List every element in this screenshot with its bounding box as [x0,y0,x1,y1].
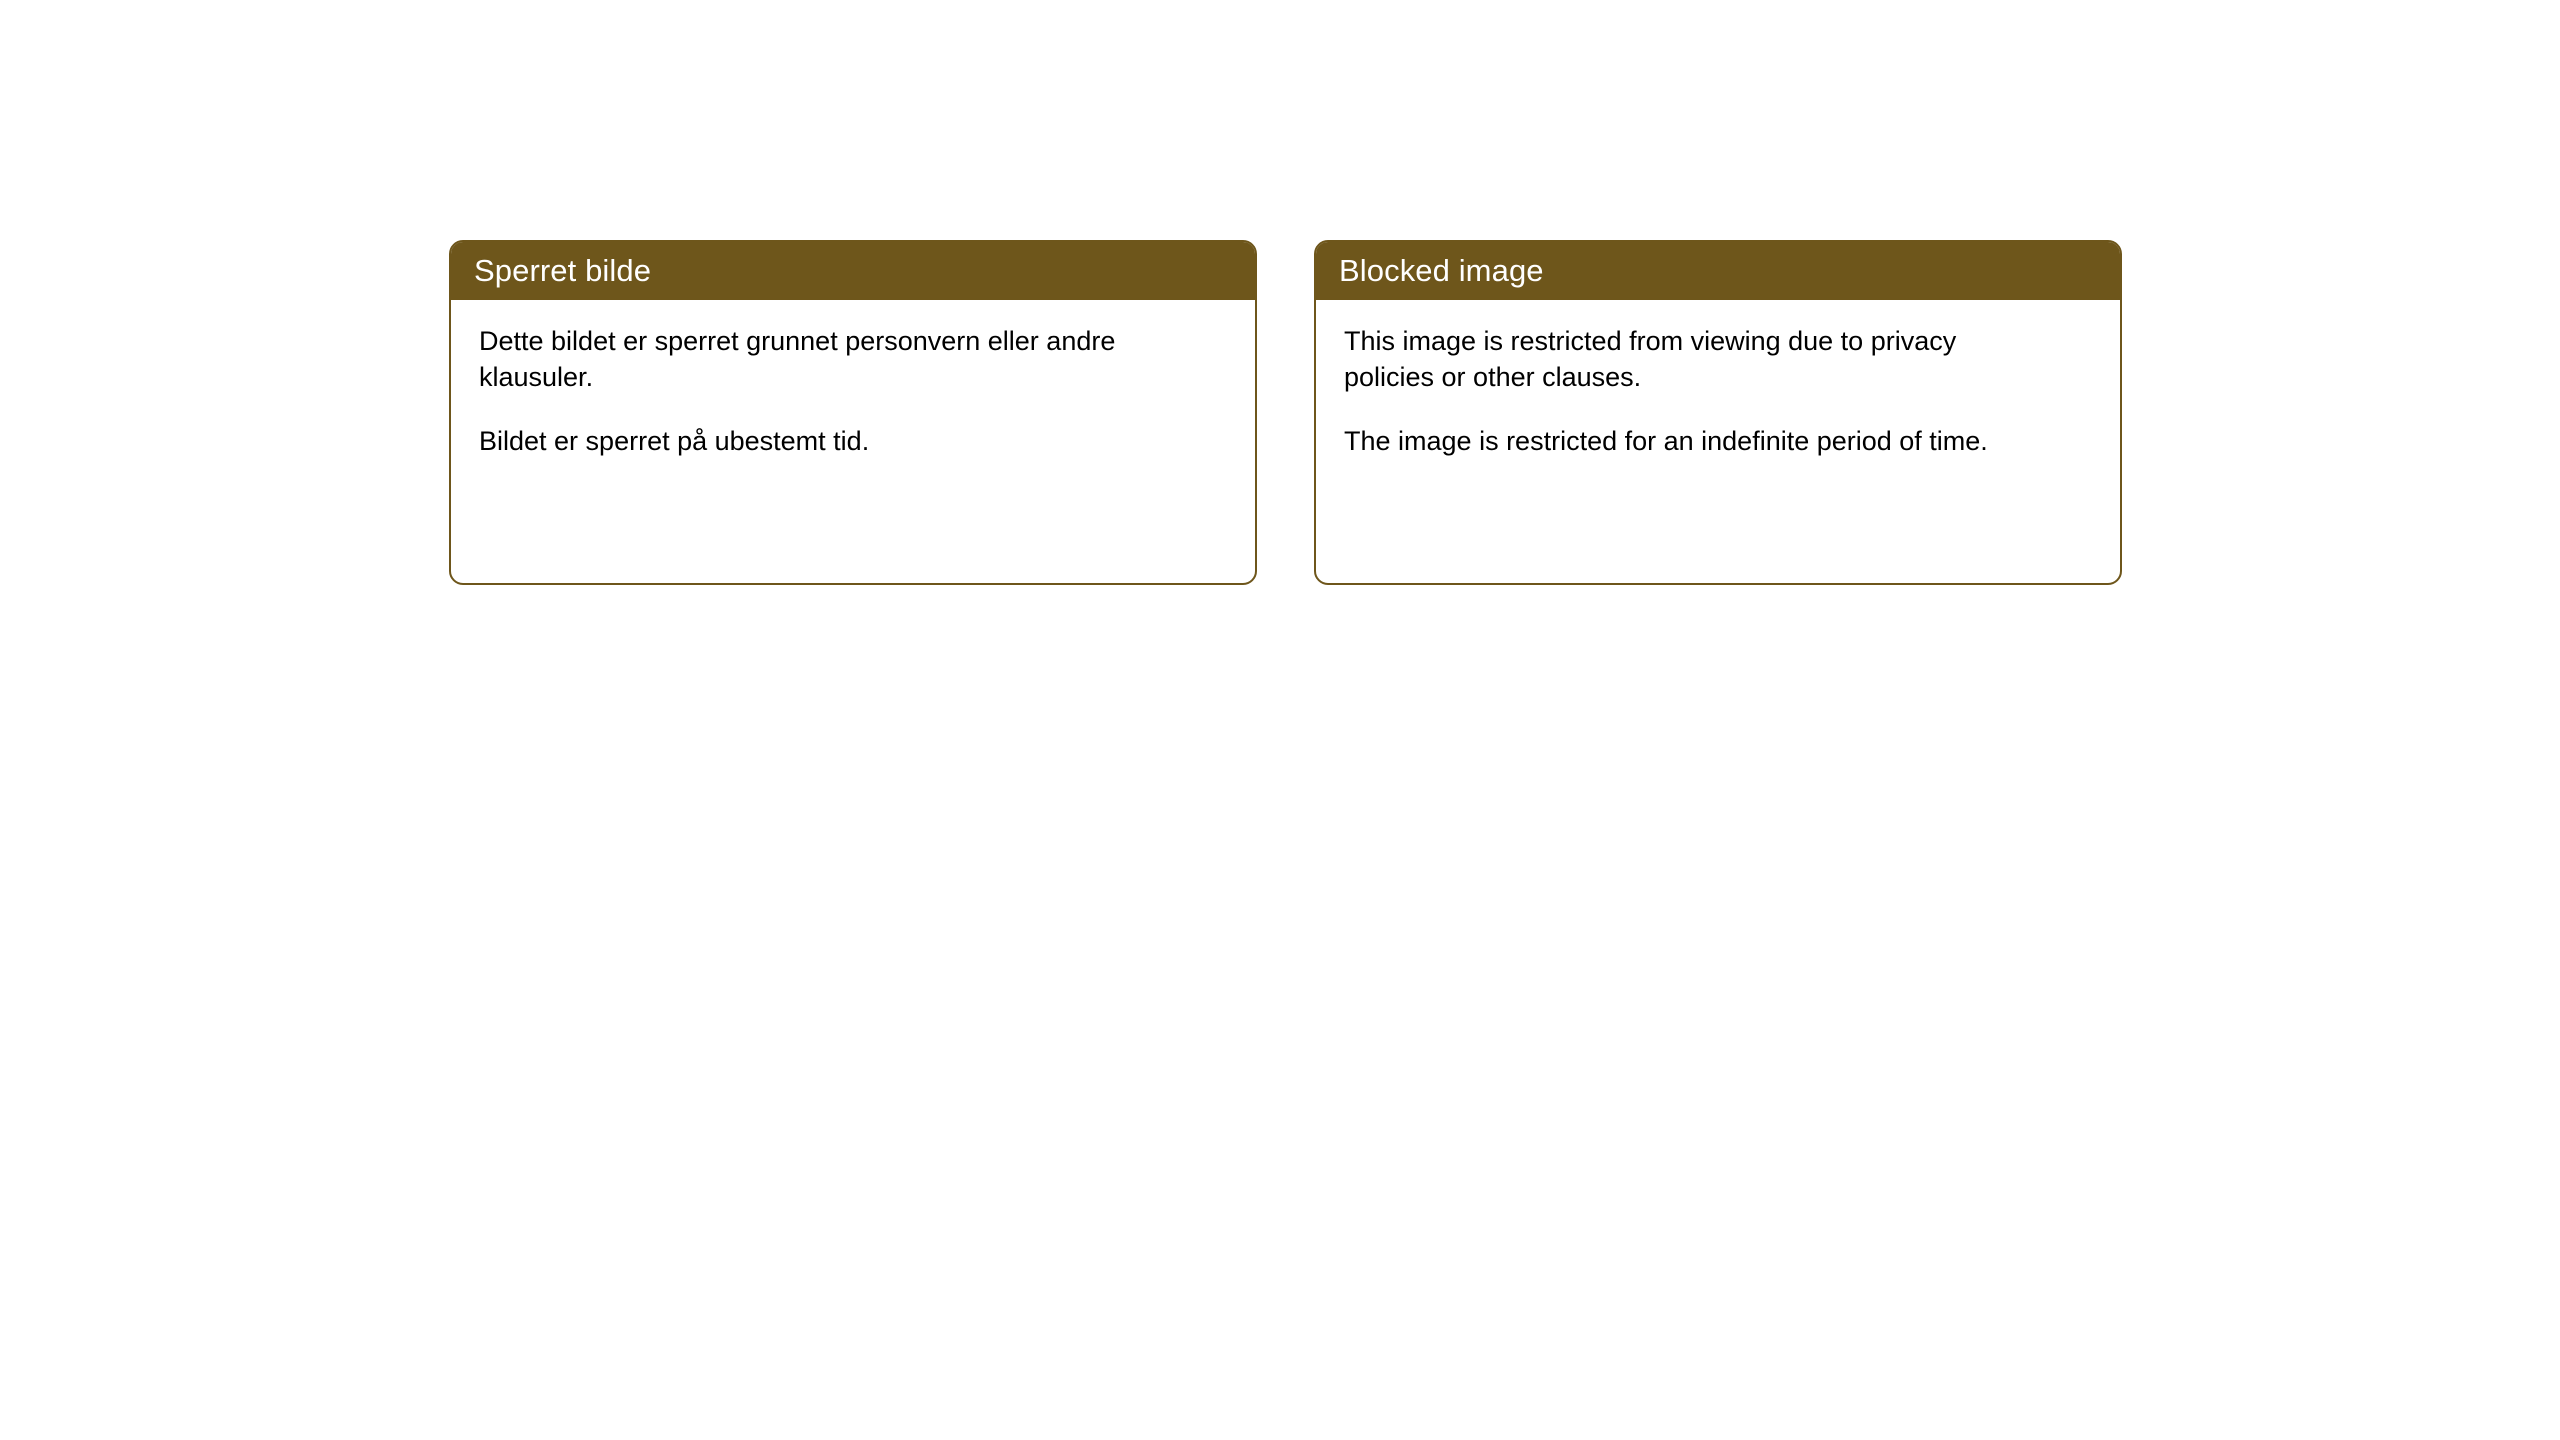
card-title-english: Blocked image [1339,255,1544,286]
card-title-norwegian: Sperret bilde [474,255,651,286]
card-body-english: This image is restricted from viewing du… [1316,300,2120,460]
card-body-norwegian: Dette bildet er sperret grunnet personve… [451,300,1255,460]
card-header-english: Blocked image [1314,240,2122,300]
blocked-image-card-norwegian: Sperret bilde Dette bildet er sperret gr… [449,240,1257,585]
card-message-primary-norwegian: Dette bildet er sperret grunnet personve… [479,324,1179,396]
card-message-secondary-norwegian: Bildet er sperret på ubestemt tid. [479,424,1179,460]
blocked-image-notice-stage: Sperret bilde Dette bildet er sperret gr… [0,0,2560,1440]
blocked-image-card-english: Blocked image This image is restricted f… [1314,240,2122,585]
card-header-norwegian: Sperret bilde [449,240,1257,300]
card-message-primary-english: This image is restricted from viewing du… [1344,324,2044,396]
card-message-secondary-english: The image is restricted for an indefinit… [1344,424,2044,460]
